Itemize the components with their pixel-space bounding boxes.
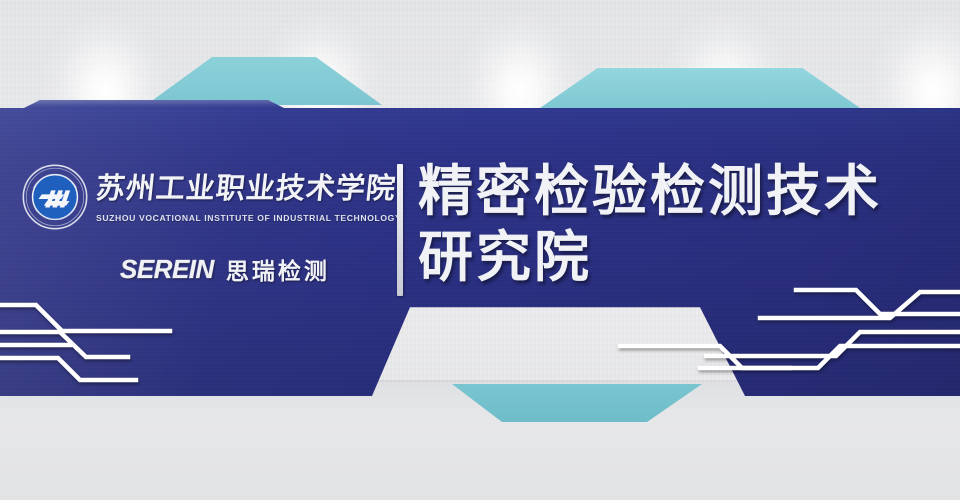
institute-logo-block: 苏州工业职业技术学院 SUZHOU VOCATIONAL INSTITUTE O…: [18, 160, 390, 296]
school-name-chinese: 苏州工业职业技术学院: [94, 166, 393, 210]
ceiling-light-glow-5: [868, 0, 960, 124]
page-title-line-1: 精密检验检测技术: [418, 158, 948, 224]
page-title: 精密检验检测技术 研究院: [418, 158, 948, 290]
vertical-divider-bar: [397, 164, 403, 296]
siit-crest-emblem: [22, 164, 88, 230]
serein-brand-chinese: 思瑞检测: [226, 252, 330, 286]
signage-scene: 苏州工业职业技术学院 SUZHOU VOCATIONAL INSTITUTE O…: [0, 0, 960, 500]
school-name-english: SUZHOU VOCATIONAL INSTITUTE OF INDUSTRIA…: [96, 212, 396, 224]
serein-brand-row: SEREIN 思瑞检测: [120, 252, 396, 286]
page-title-line-2: 研究院: [418, 224, 948, 290]
serein-brand-english: SEREIN: [120, 254, 214, 285]
